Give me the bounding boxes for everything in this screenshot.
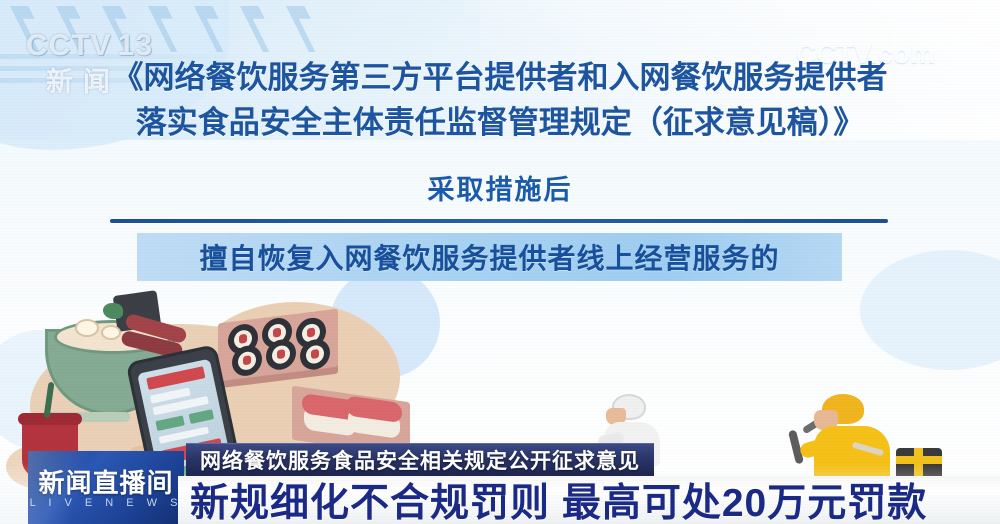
divider-rule (110, 219, 888, 223)
subtitle-bar-text: 网络餐饮服务食品安全相关规定公开征求意见 (200, 445, 640, 475)
regulation-subhead: 采取措施后 (0, 168, 1000, 207)
greens-icon (103, 303, 123, 319)
broadcast-frame: CCTV 13 新闻 CCTV.com 央视网 《网络餐饮服务第三方平台提供者和… (0, 0, 1000, 524)
regulation-title-line-1: 《网络餐饮服务第三方平台提供者和入网餐饮服务提供者 (0, 55, 1000, 100)
cup-lid (18, 413, 82, 425)
regulation-title-line-2: 落实食品安全主体责任监督管理规定（征求意见稿）》 (0, 100, 1000, 145)
watermark-chinese: 央视网 (930, 26, 984, 51)
ramen-broth (54, 320, 172, 354)
egg-icon (75, 319, 99, 337)
program-badge: 新闻直播间 L I V E N E W S (28, 451, 184, 524)
program-subtitle: L I V E N E W S (28, 497, 184, 509)
headline-text: 新规细化不合规罚则 最高可处20万元罚款 (190, 477, 1000, 523)
egg-icon (101, 325, 121, 340)
program-title: 新闻直播间 (28, 463, 184, 500)
nigiri-icon (348, 408, 400, 439)
regulation-title: 《网络餐饮服务第三方平台提供者和入网餐饮服务提供者 落实食品安全主体责任监督管理… (0, 55, 1000, 145)
highlight-band-text: 擅自恢复入网餐饮服务提供者线上经营服务的 (199, 237, 779, 277)
highlight-band: 擅自恢复入网餐饮服务提供者线上经营服务的 (137, 233, 842, 281)
